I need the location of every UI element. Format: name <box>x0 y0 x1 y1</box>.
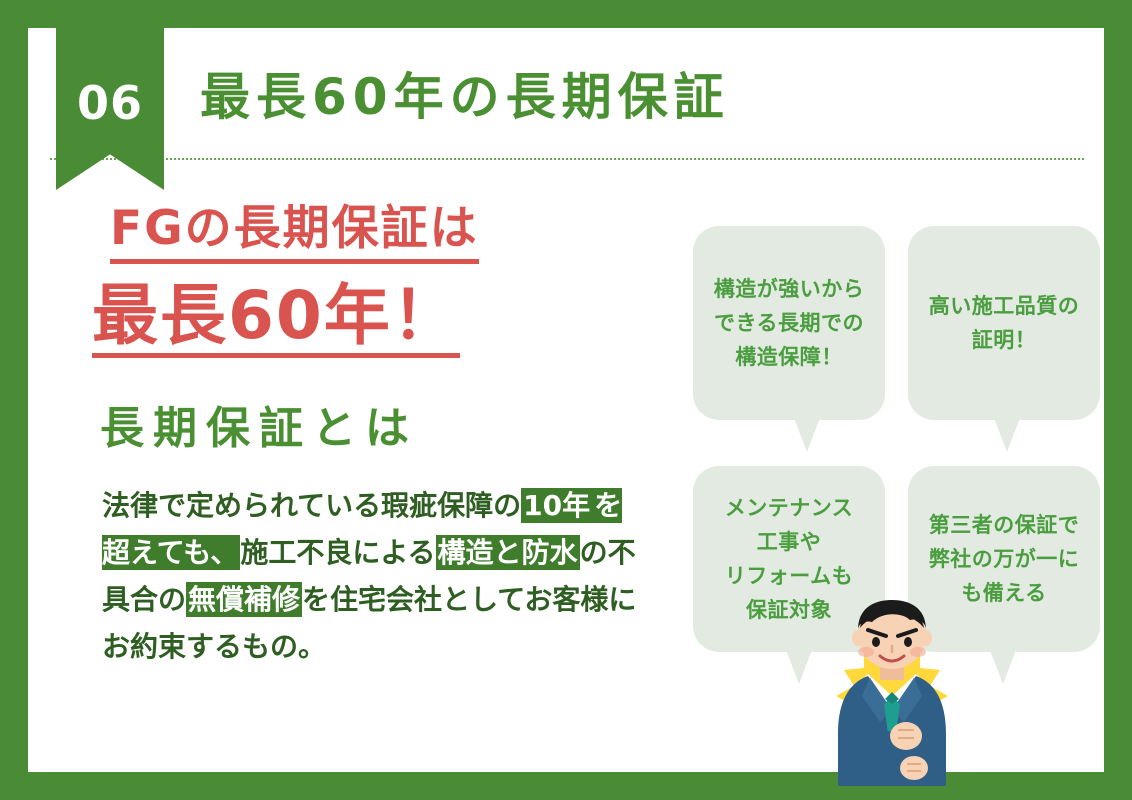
subheading: 長期保証とは <box>100 392 644 456</box>
bubble-line: 高い施工品質の <box>929 289 1080 323</box>
eye-right <box>904 637 912 647</box>
highlight-structure-waterproof: 構造と防水 <box>436 535 580 570</box>
fist <box>890 722 922 750</box>
speech-bubble-tail <box>794 418 820 452</box>
speech-bubble-tail <box>994 418 1020 452</box>
body-text-part: を住宅会社として <box>302 583 524 616</box>
section-number-ribbon: 06 <box>56 28 164 190</box>
section-number-label: 06 <box>77 80 143 126</box>
bubble-line: 証明！ <box>972 323 1037 357</box>
header-divider <box>50 158 1084 160</box>
eye-left <box>872 637 880 647</box>
body-text-part: 施工不良による <box>240 536 435 569</box>
bubble-line: 工事や <box>757 525 822 559</box>
left-content-column: FGの長期保証は 最長60年！ 長期保証とは 法律で定められている瑕疵保障の10… <box>84 204 644 670</box>
speech-bubble-tail <box>990 650 1016 684</box>
bubble-line: 第三者の保証で <box>929 508 1080 542</box>
headline-line-1: FGの長期保証は <box>110 204 479 264</box>
slide-content-area: 06 最長60年の長期保証 FGの長期保証は 最長60年！ 長期保証とは 法律で… <box>28 28 1104 772</box>
bubble-line: メンテナンス <box>725 491 854 525</box>
bubble-line: 構造保障！ <box>735 340 843 374</box>
speech-bubble-construction-quality: 高い施工品質の 証明！ <box>908 226 1100 420</box>
bubble-line: リフォームも <box>725 559 853 593</box>
slide-root: 06 最長60年の長期保証 FGの長期保証は 最長60年！ 長期保証とは 法律で… <box>0 0 1132 800</box>
bubble-line: 構造が強いから <box>714 272 865 306</box>
body-text-part: 法律で定められている瑕疵保障の <box>102 489 521 522</box>
body-paragraph: 法律で定められている瑕疵保障の10年を超えても、施工不良による構造と防水の不具合… <box>102 482 647 670</box>
highlight-free-repair: 無償補修 <box>186 582 302 617</box>
bubble-line: 弊社の万が一に <box>929 542 1080 576</box>
bubble-line: できる長期での <box>714 306 864 340</box>
confident-businessman-illustration <box>806 600 978 790</box>
page-title: 最長60年の長期保証 <box>200 70 730 125</box>
speech-bubble-structure-warranty: 構造が強いから できる長期での 構造保障！ <box>693 226 885 420</box>
headline-line-2: 最長60年！ <box>92 280 460 358</box>
highlight-10-years: 10年 <box>521 488 592 523</box>
